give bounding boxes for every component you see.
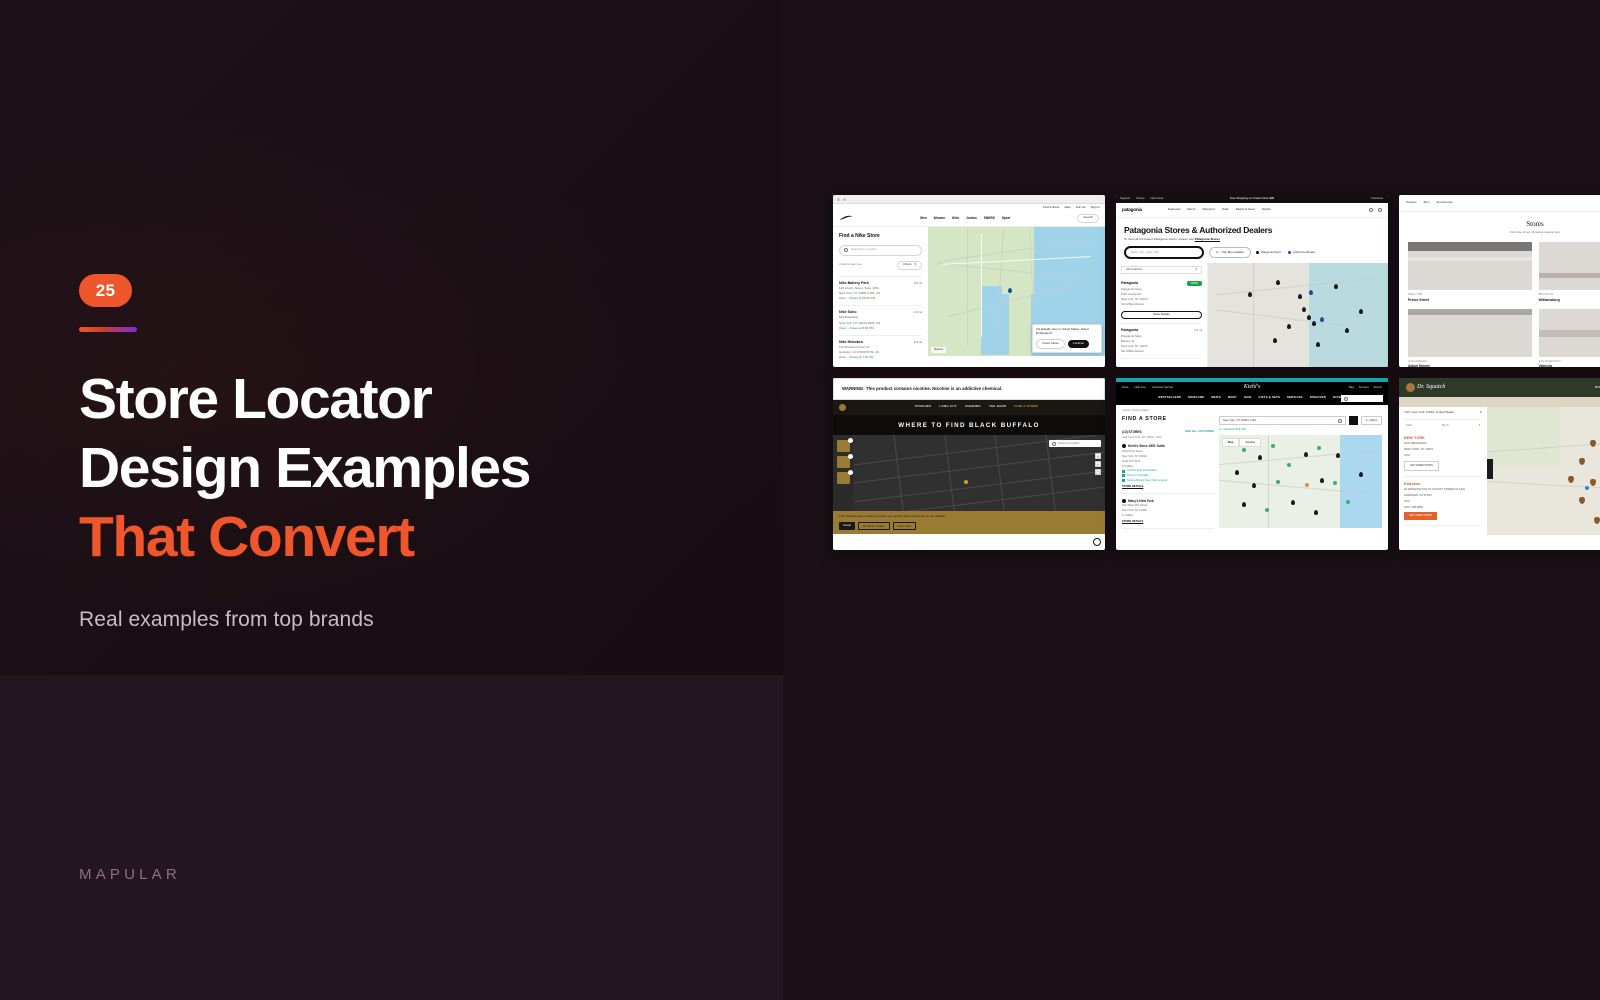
drsquatch-results-panel: York, New York, 10001, United States ✕ F… bbox=[1399, 407, 1487, 535]
nike-store-name: Nike Battery Park bbox=[839, 281, 869, 285]
drsquatch-store-row[interactable]: NEW YORK 1010 BROADWAY NEW YORK, NY 1001… bbox=[1404, 431, 1482, 476]
kiehls-util-bag[interactable]: Bag bbox=[1349, 386, 1354, 389]
kiehls-nav-mens[interactable]: MEN'S bbox=[1211, 396, 1221, 399]
screenshot-card-nike[interactable]: Find a Store Help Join Us Sign In Men Wo… bbox=[833, 195, 1105, 367]
title-line-3: That Convert bbox=[79, 503, 739, 572]
map-pin-icon bbox=[1288, 251, 1291, 255]
drsquatch-filter-row: Filter 50 mi ▾ bbox=[1404, 420, 1482, 431]
nike-toast-confirm[interactable]: Continue bbox=[1068, 340, 1089, 347]
nike-store-distance: 2.3 mi bbox=[914, 341, 922, 345]
kiehls-store-name: Macy's New York bbox=[1128, 499, 1154, 503]
everlane-store-region: BROOKLYN bbox=[1539, 293, 1600, 296]
drsquatch-logo-text: Dr. Squatch bbox=[1417, 384, 1445, 392]
nike-store-row[interactable]: Nike Soho 1.9 mi 529 Broadway New York, … bbox=[839, 305, 922, 335]
patagonia-select-label: All Locations bbox=[1126, 268, 1142, 272]
drsquatch-store-region: NEW YORK bbox=[1404, 436, 1482, 440]
kiehls-store-service: Service Based: Deep Skin Analysis bbox=[1122, 479, 1214, 482]
drsquatch-nav-links: SUBSCRIBE REWARDS SHOP bbox=[1595, 386, 1600, 390]
nike-nav-jordan[interactable]: Jordan bbox=[966, 216, 977, 220]
patagonia-nav-kids[interactable]: Kids' bbox=[1222, 208, 1229, 212]
nike-filters-button[interactable]: Filters ▾ bbox=[897, 261, 922, 270]
nike-nav-actions: Search bbox=[1077, 214, 1099, 223]
everlane-nav-men[interactable]: Men bbox=[1424, 201, 1430, 205]
drsquatch-store-city: NEW YORK, NY 10010 bbox=[1404, 448, 1482, 452]
patagonia-subheading-link[interactable]: Patagonia Stores bbox=[1195, 237, 1220, 241]
nike-region-toast[interactable]: US globally store in United States. Sele… bbox=[1032, 324, 1102, 352]
kiehls-logo[interactable]: Kiehl's bbox=[1244, 384, 1261, 392]
kiehls-nav-skincare[interactable]: SKINCARE bbox=[1188, 396, 1204, 399]
drsquatch-store-region: Hoboken bbox=[1404, 482, 1482, 486]
legend-label-store: Patagonia Store bbox=[1261, 251, 1281, 254]
map-pin-icon bbox=[1256, 251, 1259, 255]
nike-store-distance: 0.5 mi bbox=[914, 282, 922, 286]
blackbuffalo-navbar: POUCHES LONG CUT CHEWING THE BAND FIND A… bbox=[833, 400, 1105, 415]
everlane-nav-accessories[interactable]: Accessories bbox=[1437, 201, 1453, 205]
everlane-store-photo bbox=[1408, 242, 1532, 290]
kiehls-nav-body[interactable]: BODY bbox=[1228, 396, 1237, 399]
everlane-heading: Stores bbox=[1399, 212, 1600, 232]
kiehls-util-actions: Bag Account Search bbox=[1349, 386, 1382, 389]
blackbuffalo-nicotine-warning: WARNING: This product contains nicotine.… bbox=[833, 378, 1105, 400]
kiehls-nav-services[interactable]: SERVICES bbox=[1287, 396, 1303, 399]
everlane-store-name: Abbot Kinney bbox=[1408, 364, 1532, 367]
chevron-down-icon: ▾ bbox=[914, 263, 916, 267]
drsquatch-store-country: USA bbox=[1404, 500, 1482, 504]
zoom-in-button[interactable]: + bbox=[1095, 453, 1101, 459]
drsquatch-search-value: York, New York, 10001, United States bbox=[1404, 411, 1454, 415]
kiehls-util-helpline[interactable]: Help Line bbox=[1134, 386, 1145, 389]
patagonia-store-city: New York, NY 10012 bbox=[1121, 345, 1202, 349]
nike-store-address: 529 Broadway bbox=[839, 316, 922, 320]
map-pin-icon bbox=[1122, 499, 1126, 503]
kiehls-service-label: Pickup in Curbside bbox=[1127, 474, 1149, 477]
kiehls-search-bar: New York, NY 10001, USA ≡ Filters bbox=[1219, 416, 1382, 425]
blackbuffalo-nav-chewing[interactable]: CHEWING bbox=[965, 405, 981, 409]
nike-filters-label: Filters bbox=[903, 263, 911, 267]
slide-canvas: 25 Store Locator Design Examples That Co… bbox=[0, 0, 1600, 1000]
everlane-store-region: LOS ANGELES bbox=[1408, 360, 1532, 363]
patagonia-promo-checkout[interactable]: Checkout bbox=[1371, 197, 1383, 201]
patagonia-store-address: Bowery St bbox=[1121, 340, 1202, 344]
count-badge: 25 bbox=[79, 274, 132, 307]
patagonia-logo[interactable]: patagonia bbox=[1122, 207, 1142, 213]
kiehls-filters-label: Filters bbox=[1369, 419, 1377, 422]
patagonia-nav-featured[interactable]: Featured bbox=[1168, 208, 1180, 212]
nike-heading: Find a Nike Store bbox=[839, 233, 922, 239]
screenshot-card-drsquatch[interactable]: Dr. Squatch SUBSCRIBE REWARDS SHOP York,… bbox=[1399, 378, 1600, 550]
kiehls-util-account[interactable]: Account bbox=[1359, 386, 1369, 389]
kiehls-breadcrumb: Home / Store Locator bbox=[1116, 405, 1388, 412]
patagonia-subheading: To view all US based Patagonia stores, p… bbox=[1116, 235, 1388, 246]
accent-divider bbox=[79, 327, 137, 332]
blackbuffalo-logo[interactable] bbox=[839, 404, 846, 411]
nike-store-name: Nike Soho bbox=[839, 310, 857, 314]
patagonia-controls: Enter City, State, ZIP ◎ Use My Location… bbox=[1116, 246, 1388, 263]
screenshot-card-blackbuffalo[interactable]: WARNING: This product contains nicotine.… bbox=[833, 378, 1105, 550]
blackbuffalo-map-section: Search a Location + − ⛶ bbox=[833, 435, 1105, 511]
patagonia-content: All Locations ▾ Patagonia OPEN Patagonia… bbox=[1116, 263, 1388, 367]
map-pin-icon bbox=[1122, 444, 1126, 448]
drsquatch-store-address: 1010 BROADWAY bbox=[1404, 442, 1482, 446]
patagonia-promo-support[interactable]: Support bbox=[1120, 197, 1130, 201]
kiehls-store-head: Kiehl's Since 1851 SoHo bbox=[1122, 444, 1214, 448]
drsquatch-store-country: USA bbox=[1404, 454, 1482, 458]
patagonia-results-panel: All Locations ▾ Patagonia OPEN Patagonia… bbox=[1116, 263, 1208, 367]
nike-store-city: New York, NY 10012-3929, US bbox=[839, 322, 922, 326]
kiehls-list-count: (13) STORES bbox=[1122, 430, 1142, 434]
patagonia-nav-womens[interactable]: Women's bbox=[1202, 208, 1215, 212]
screenshot-gallery: Find a Store Help Join Us Sign In Men Wo… bbox=[833, 195, 1600, 550]
kiehls-store-city: New York, NY 10001 bbox=[1122, 509, 1214, 512]
globe-icon[interactable] bbox=[1093, 538, 1101, 546]
everlane-store-photo bbox=[1408, 309, 1532, 357]
everlane-store-grid: NEW YORK Prince Street BROOKLYN Williams… bbox=[1399, 242, 1600, 367]
nike-nav-links: Men Women Kids Jordan SNKRS Sport bbox=[920, 216, 1010, 220]
drsquatch-search-input[interactable]: York, New York, 10001, United States ✕ bbox=[1404, 411, 1482, 420]
patagonia-store-type: Patagonia Store bbox=[1121, 335, 1202, 339]
nike-store-hours: Open · Closes at 8:00 PM bbox=[839, 327, 922, 331]
patagonia-search-placeholder: Enter City, State, ZIP bbox=[1131, 251, 1159, 255]
drsquatch-content: York, New York, 10001, United States ✕ F… bbox=[1399, 407, 1600, 535]
patagonia-nav-mens[interactable]: Men's bbox=[1187, 208, 1195, 212]
kiehls-util-links: Store Help Line Customer Service bbox=[1122, 386, 1173, 389]
nike-navbar: Men Women Kids Jordan SNKRS Sport Search bbox=[833, 211, 1105, 227]
kiehls-list-header: (13) STORES SEE ALL LOCATIONS bbox=[1122, 430, 1214, 434]
service-icon bbox=[1122, 474, 1125, 477]
blackbuffalo-search-placeholder: Search a Location bbox=[1058, 442, 1080, 445]
screenshot-card-patagonia[interactable]: Support Stores New Gear Free Shipping on… bbox=[1116, 195, 1388, 367]
everlane-subheading: Find one of our 11 stores nearest you bbox=[1399, 231, 1600, 242]
blackbuffalo-category-chip[interactable] bbox=[837, 456, 850, 468]
legend-entry-store: Patagonia Store bbox=[1256, 251, 1281, 255]
patagonia-search-input[interactable]: Enter City, State, ZIP bbox=[1124, 246, 1204, 259]
title-line-2: Design Examples bbox=[79, 434, 739, 503]
drsquatch-store-row[interactable]: Hoboken 64 WASHINGTON ST (COURT STREET P… bbox=[1404, 477, 1482, 526]
nike-utility-bar: Find a Store Help Join Us Sign In bbox=[833, 204, 1105, 211]
everlane-store-name: Prince Street bbox=[1408, 298, 1532, 302]
nike-content: Find a Nike Store Search by Location 3 s… bbox=[833, 227, 1105, 356]
nike-store-address: 110 Maryland Court LC bbox=[839, 346, 922, 350]
blackbuffalo-cookie-actions: Accept No thanks, I'll pass Learn more bbox=[839, 522, 1099, 530]
drsquatch-filter-left[interactable]: Filter bbox=[1406, 424, 1412, 427]
patagonia-map[interactable] bbox=[1208, 263, 1388, 367]
kiehls-nav-gifts[interactable]: GIFTS & SETS bbox=[1259, 396, 1281, 399]
nike-store-hours: Open · Closes at 7:00 PM bbox=[839, 356, 922, 360]
everlane-store-cell[interactable]: LOS ANGELES Abbot Kinney bbox=[1408, 309, 1532, 367]
kiehls-store-details-link[interactable]: STORE DETAILS bbox=[1122, 485, 1214, 488]
legend-label-dealer: Authorized Dealer bbox=[1293, 251, 1315, 254]
patagonia-store-city: New York, NY 10014 bbox=[1121, 298, 1202, 302]
zoom-out-button[interactable]: − bbox=[1095, 461, 1101, 467]
hero-block: 25 Store Locator Design Examples That Co… bbox=[79, 274, 739, 632]
crosshair-icon: ◎ bbox=[1219, 428, 1221, 431]
kiehls-search-value: New York, NY 10001, USA bbox=[1223, 419, 1256, 422]
everlane-store-photo bbox=[1539, 309, 1600, 357]
search-icon bbox=[1052, 442, 1056, 446]
nike-toast-actions: United States Continue bbox=[1036, 339, 1098, 348]
nike-store-head: Nike Hoboken 2.3 mi bbox=[839, 340, 922, 345]
patagonia-locate-label: Use My Location bbox=[1222, 251, 1244, 255]
nike-util-help[interactable]: Help bbox=[1064, 206, 1070, 210]
blackbuffalo-nav-links: POUCHES LONG CUT CHEWING THE BAND FIND A… bbox=[915, 405, 1038, 409]
kiehls-store-details-link[interactable]: STORE DETAILS bbox=[1122, 520, 1214, 523]
patagonia-nav-packs[interactable]: Packs & Gear bbox=[1236, 208, 1255, 212]
kiehls-search-submit[interactable] bbox=[1349, 416, 1358, 425]
kiehls-map[interactable]: Map Satellite bbox=[1219, 435, 1382, 529]
kiehls-map-tabs: Map Satellite bbox=[1222, 438, 1261, 447]
drsquatch-banner-strip bbox=[1399, 397, 1600, 407]
kiehls-nav-discover[interactable]: DISCOVER bbox=[1310, 396, 1326, 399]
patagonia-promo-bar: Support Stores New Gear Free Shipping on… bbox=[1116, 195, 1388, 203]
chevron-down-icon: ▾ bbox=[1196, 268, 1197, 272]
kiehls-utility-bar: Store Help Line Customer Service Kiehl's… bbox=[1116, 382, 1388, 393]
patagonia-store-row[interactable]: Patagonia OPEN Patagonia Store 8-40 Coun… bbox=[1121, 277, 1202, 324]
kiehls-store-row[interactable]: Macy's New York 151 West 34th Street New… bbox=[1122, 499, 1214, 529]
kiehls-top-search-input[interactable] bbox=[1341, 395, 1383, 402]
blackbuffalo-nav-longcut[interactable]: LONG CUT bbox=[939, 405, 957, 409]
nike-filter-row: 3 stores near you Filters ▾ bbox=[839, 261, 922, 270]
nike-nav-kids[interactable]: Kids bbox=[952, 216, 959, 220]
drsquatch-filter-radius[interactable]: 50 mi bbox=[1442, 424, 1449, 427]
patagonia-store-name: Patagonia bbox=[1121, 281, 1138, 285]
browser-chrome bbox=[833, 195, 1105, 204]
fullscreen-icon[interactable]: ⛶ bbox=[1095, 469, 1101, 475]
patagonia-store-name: Patagonia bbox=[1121, 328, 1138, 332]
nike-util-join[interactable]: Join Us bbox=[1076, 206, 1086, 210]
drsquatch-store-city: HOBOKEN, NJ 07030 bbox=[1404, 494, 1482, 498]
drsquatch-map[interactable] bbox=[1487, 407, 1600, 535]
kiehls-navbar: BESTSELLERS SKINCARE MEN'S BODY HAIR GIF… bbox=[1116, 393, 1388, 404]
nike-store-row[interactable]: Nike Hoboken 2.3 mi 110 Maryland Court L… bbox=[839, 335, 922, 365]
search-icon bbox=[1338, 419, 1342, 423]
kiehls-geolocate-button[interactable]: ◎ GEOLOCATE ME bbox=[1219, 428, 1382, 431]
patagonia-heading: Patagonia Stores & Authorized Dealers bbox=[1116, 218, 1388, 236]
blackbuffalo-cookie-text: This website uses cookies to ensure you … bbox=[839, 514, 945, 518]
kiehls-store-service: Another Skin Consultation bbox=[1122, 469, 1214, 472]
screenshot-card-kiehls[interactable]: Store Help Line Customer Service Kiehl's… bbox=[1116, 378, 1388, 550]
nike-search-placeholder: Search by Location bbox=[851, 248, 877, 252]
everlane-store-region: SAN FRANCISCO bbox=[1539, 360, 1600, 363]
drsquatch-directions-button[interactable]: GET DIRECTIONS bbox=[1404, 461, 1439, 470]
service-icon bbox=[1122, 479, 1125, 482]
nike-store-hours: Open · Closes at 08:00 PM bbox=[839, 297, 922, 301]
nike-store-address: 120 Liberty Street, Suite 4156 bbox=[839, 287, 922, 291]
blackbuffalo-nav-pouches[interactable]: POUCHES bbox=[915, 405, 931, 409]
map-attribution: Mapbox bbox=[931, 347, 946, 352]
kiehls-service-label: Service Based: Deep Skin Analysis bbox=[1127, 479, 1167, 482]
kiehls-service-label: Another Skin Consultation bbox=[1127, 469, 1157, 472]
kiehls-list-near: near New York, NY 10001, USA bbox=[1122, 436, 1214, 439]
nike-store-name: Nike Hoboken bbox=[839, 340, 863, 344]
kiehls-results-panel: FIND A STORE (13) STORES SEE ALL LOCATIO… bbox=[1122, 416, 1214, 528]
drsquatch-nav-subscribe[interactable]: SUBSCRIBE bbox=[1595, 386, 1600, 390]
kiehls-store-name: Kiehl's Since 1851 SoHo bbox=[1128, 444, 1165, 448]
nike-store-city: Hoboken, NJ 07030-5739, US bbox=[839, 351, 922, 355]
kiehls-heading: FIND A STORE bbox=[1122, 416, 1214, 423]
search-icon bbox=[844, 248, 848, 252]
chevron-down-icon[interactable]: ▾ bbox=[1479, 424, 1480, 427]
kiehls-store-address: 151 West 34th Street bbox=[1122, 504, 1214, 507]
page-title: Store Locator Design Examples That Conve… bbox=[79, 365, 739, 572]
everlane-store-cell[interactable]: NEW YORK Prince Street bbox=[1408, 242, 1532, 302]
kiehls-store-city: New York, NY 10012 bbox=[1122, 455, 1214, 458]
kiehls-map-tab-satellite[interactable]: Satellite bbox=[1239, 438, 1261, 447]
blackbuffalo-heading: WHERE TO FIND BLACK BUFFALO bbox=[833, 415, 1105, 436]
clear-icon[interactable]: ✕ bbox=[1479, 411, 1482, 415]
nike-results-note: 3 stores near you bbox=[839, 263, 861, 267]
patagonia-store-services: Ski & Bike Rental bbox=[1121, 350, 1202, 354]
blackbuffalo-nav-theband[interactable]: THE BAND bbox=[989, 405, 1006, 409]
everlane-store-name: Valencia bbox=[1539, 364, 1600, 367]
nike-store-city: New York, NY 10281-4156, US bbox=[839, 292, 922, 296]
crosshair-icon: ◎ bbox=[1216, 251, 1219, 255]
kiehls-store-address: 109 Prince Street bbox=[1122, 450, 1214, 453]
drsquatch-logo[interactable]: Dr. Squatch bbox=[1406, 383, 1445, 392]
search-icon bbox=[1344, 397, 1348, 401]
kiehls-store-head: Macy's New York bbox=[1122, 499, 1214, 503]
everlane-navbar: Careers Men Accessories EVERLANE bbox=[1399, 195, 1600, 212]
patagonia-promo-left: Support Stores New Gear bbox=[1120, 197, 1164, 201]
nike-store-head: Nike Soho 1.9 mi bbox=[839, 310, 922, 315]
cart-icon[interactable] bbox=[1378, 208, 1382, 212]
drsquatch-directions-button[interactable]: GET DIRECTIONS bbox=[1404, 512, 1437, 519]
blackbuffalo-category-chip[interactable] bbox=[837, 472, 850, 484]
drsquatch-store-phone: (201) 798-0881 bbox=[1404, 506, 1482, 510]
everlane-store-photo bbox=[1539, 242, 1600, 290]
nike-nav-men[interactable]: Men bbox=[920, 216, 926, 220]
patagonia-store-badge: OPEN bbox=[1187, 281, 1202, 286]
kiehls-util-service[interactable]: Customer Service bbox=[1152, 386, 1173, 389]
patagonia-locate-button[interactable]: ◎ Use My Location bbox=[1209, 247, 1251, 258]
squatch-mascot-icon bbox=[1406, 383, 1415, 392]
nike-results-panel: Find a Nike Store Search by Location 3 s… bbox=[833, 227, 928, 356]
kiehls-store-service: Pickup in Curbside bbox=[1122, 474, 1214, 477]
patagonia-map-legend: Patagonia Store Authorized Dealer bbox=[1256, 251, 1315, 255]
nike-toast-country[interactable]: United States bbox=[1036, 339, 1065, 348]
service-icon bbox=[1122, 470, 1125, 473]
kiehls-store-distance: 1.1 Miles bbox=[1122, 514, 1214, 517]
everlane-store-cell[interactable]: BROOKLYN Williamsburg bbox=[1539, 242, 1600, 302]
chrome-dot bbox=[843, 198, 846, 201]
nike-swoosh-logo[interactable] bbox=[839, 215, 853, 221]
search-icon[interactable] bbox=[1369, 208, 1373, 212]
patagonia-navbar: patagonia Featured Men's Women's Kids' P… bbox=[1116, 203, 1388, 218]
patagonia-nav-sports[interactable]: Sports bbox=[1262, 208, 1271, 212]
drsquatch-drawer-handle[interactable] bbox=[1487, 459, 1493, 479]
blackbuffalo-cookie-banner: This website uses cookies to ensure you … bbox=[833, 511, 1105, 534]
brand-logo: MAPULAR bbox=[79, 866, 181, 883]
cookie-decline-button[interactable]: No thanks, I'll pass bbox=[858, 522, 890, 530]
drsquatch-navbar: Dr. Squatch SUBSCRIBE REWARDS SHOP bbox=[1399, 378, 1600, 397]
nike-util-find-store[interactable]: Find a Store bbox=[1043, 206, 1059, 210]
nike-nav-snkrs[interactable]: SNKRS bbox=[984, 216, 995, 220]
nike-store-row[interactable]: Nike Battery Park 0.5 mi 120 Liberty Str… bbox=[839, 276, 922, 306]
patagonia-store-type: Patagonia Store bbox=[1121, 288, 1202, 292]
patagonia-nav-links: Featured Men's Women's Kids' Packs & Gea… bbox=[1168, 208, 1271, 212]
kiehls-see-all-link[interactable]: SEE ALL LOCATIONS bbox=[1185, 430, 1214, 434]
nike-search-input[interactable]: Search by Location bbox=[839, 245, 922, 256]
nike-nav-sport[interactable]: Sport bbox=[1002, 216, 1010, 220]
patagonia-promo-text: Free Shipping on Orders Over $99 bbox=[1230, 197, 1274, 201]
everlane-store-cell[interactable]: SAN FRANCISCO Valencia bbox=[1539, 309, 1600, 367]
patagonia-subheading-text: To view all US based Patagonia stores, p… bbox=[1124, 237, 1194, 241]
patagonia-location-select[interactable]: All Locations ▾ bbox=[1121, 266, 1202, 274]
kiehls-search-input[interactable]: New York, NY 10001, USA bbox=[1219, 416, 1346, 425]
kiehls-store-row[interactable]: Kiehl's Since 1851 SoHo 109 Prince Stree… bbox=[1122, 444, 1214, 493]
nike-toast-text: US globally store in United States. Sele… bbox=[1036, 328, 1098, 336]
nike-search-button[interactable]: Search bbox=[1077, 214, 1099, 223]
kiehls-nav-hair[interactable]: HAIR bbox=[1244, 396, 1252, 399]
blackbuffalo-search-input[interactable]: Search a Location bbox=[1049, 440, 1101, 447]
nike-store-distance: 1.9 mi bbox=[914, 311, 922, 315]
patagonia-store-address: 8-40 County Rd bbox=[1121, 293, 1202, 297]
kiehls-util-store[interactable]: Store bbox=[1122, 386, 1128, 389]
everlane-store-region: NEW YORK bbox=[1408, 293, 1532, 296]
kiehls-nav-bestsellers[interactable]: BESTSELLERS bbox=[1158, 396, 1181, 399]
patagonia-store-details-button[interactable]: Store Details bbox=[1121, 311, 1202, 319]
kiehls-map-column: New York, NY 10001, USA ≡ Filters ◎ GEOL… bbox=[1219, 416, 1382, 528]
patagonia-store-distance: 2.4 mi bbox=[1194, 329, 1202, 333]
kiehls-util-search[interactable]: Search bbox=[1373, 386, 1382, 389]
patagonia-promo-stores[interactable]: Stores bbox=[1136, 197, 1144, 201]
patagonia-store-row[interactable]: Patagonia 2.4 mi Patagonia Store Bowery … bbox=[1121, 324, 1202, 359]
chrome-dot bbox=[837, 198, 840, 201]
page-subtitle: Real examples from top brands bbox=[79, 608, 739, 632]
bottom-panel-background bbox=[0, 675, 783, 1000]
title-line-1: Store Locator bbox=[79, 365, 739, 434]
cookie-learnmore-link[interactable]: Learn more bbox=[893, 522, 916, 530]
patagonia-store-services: Ski & Bike Rental bbox=[1121, 303, 1202, 307]
filter-icon: ≡ bbox=[1366, 419, 1368, 422]
kiehls-store-phone: (212) 677-3171 bbox=[1122, 460, 1214, 463]
kiehls-content: FIND A STORE (13) STORES SEE ALL LOCATIO… bbox=[1116, 412, 1388, 528]
blackbuffalo-category-chip[interactable] bbox=[837, 440, 850, 452]
patagonia-nav-icons bbox=[1369, 208, 1382, 212]
screenshot-card-everlane[interactable]: Careers Men Accessories EVERLANE Stores … bbox=[1399, 195, 1600, 367]
blackbuffalo-zoom-controls: + − ⛶ bbox=[1095, 453, 1101, 475]
kiehls-geolocate-label: GEOLOCATE ME bbox=[1223, 428, 1245, 431]
kiehls-map-tab-map[interactable]: Map bbox=[1222, 438, 1239, 447]
drsquatch-store-address: 64 WASHINGTON ST (COURT STREET PLAZA) bbox=[1404, 488, 1482, 492]
patagonia-promo-newgear[interactable]: New Gear bbox=[1150, 197, 1163, 201]
cookie-accept-button[interactable]: Accept bbox=[839, 522, 855, 530]
blackbuffalo-nav-findstore[interactable]: FIND A STORE bbox=[1014, 405, 1038, 409]
nike-nav-women[interactable]: Women bbox=[934, 216, 945, 220]
nike-map[interactable]: Mapbox US globally store in United State… bbox=[928, 227, 1105, 356]
everlane-nav-careers[interactable]: Careers bbox=[1406, 201, 1417, 205]
everlane-store-name: Williamsburg bbox=[1539, 298, 1600, 302]
nike-store-head: Nike Battery Park 0.5 mi bbox=[839, 281, 922, 286]
nike-util-signin[interactable]: Sign In bbox=[1091, 206, 1100, 210]
kiehls-filters-button[interactable]: ≡ Filters bbox=[1361, 416, 1382, 425]
blackbuffalo-category-rail bbox=[837, 440, 850, 484]
kiehls-store-distance: 0.3 Miles bbox=[1122, 465, 1214, 468]
everlane-nav-links: Careers Men Accessories bbox=[1406, 201, 1453, 205]
legend-entry-dealer: Authorized Dealer bbox=[1288, 251, 1315, 255]
